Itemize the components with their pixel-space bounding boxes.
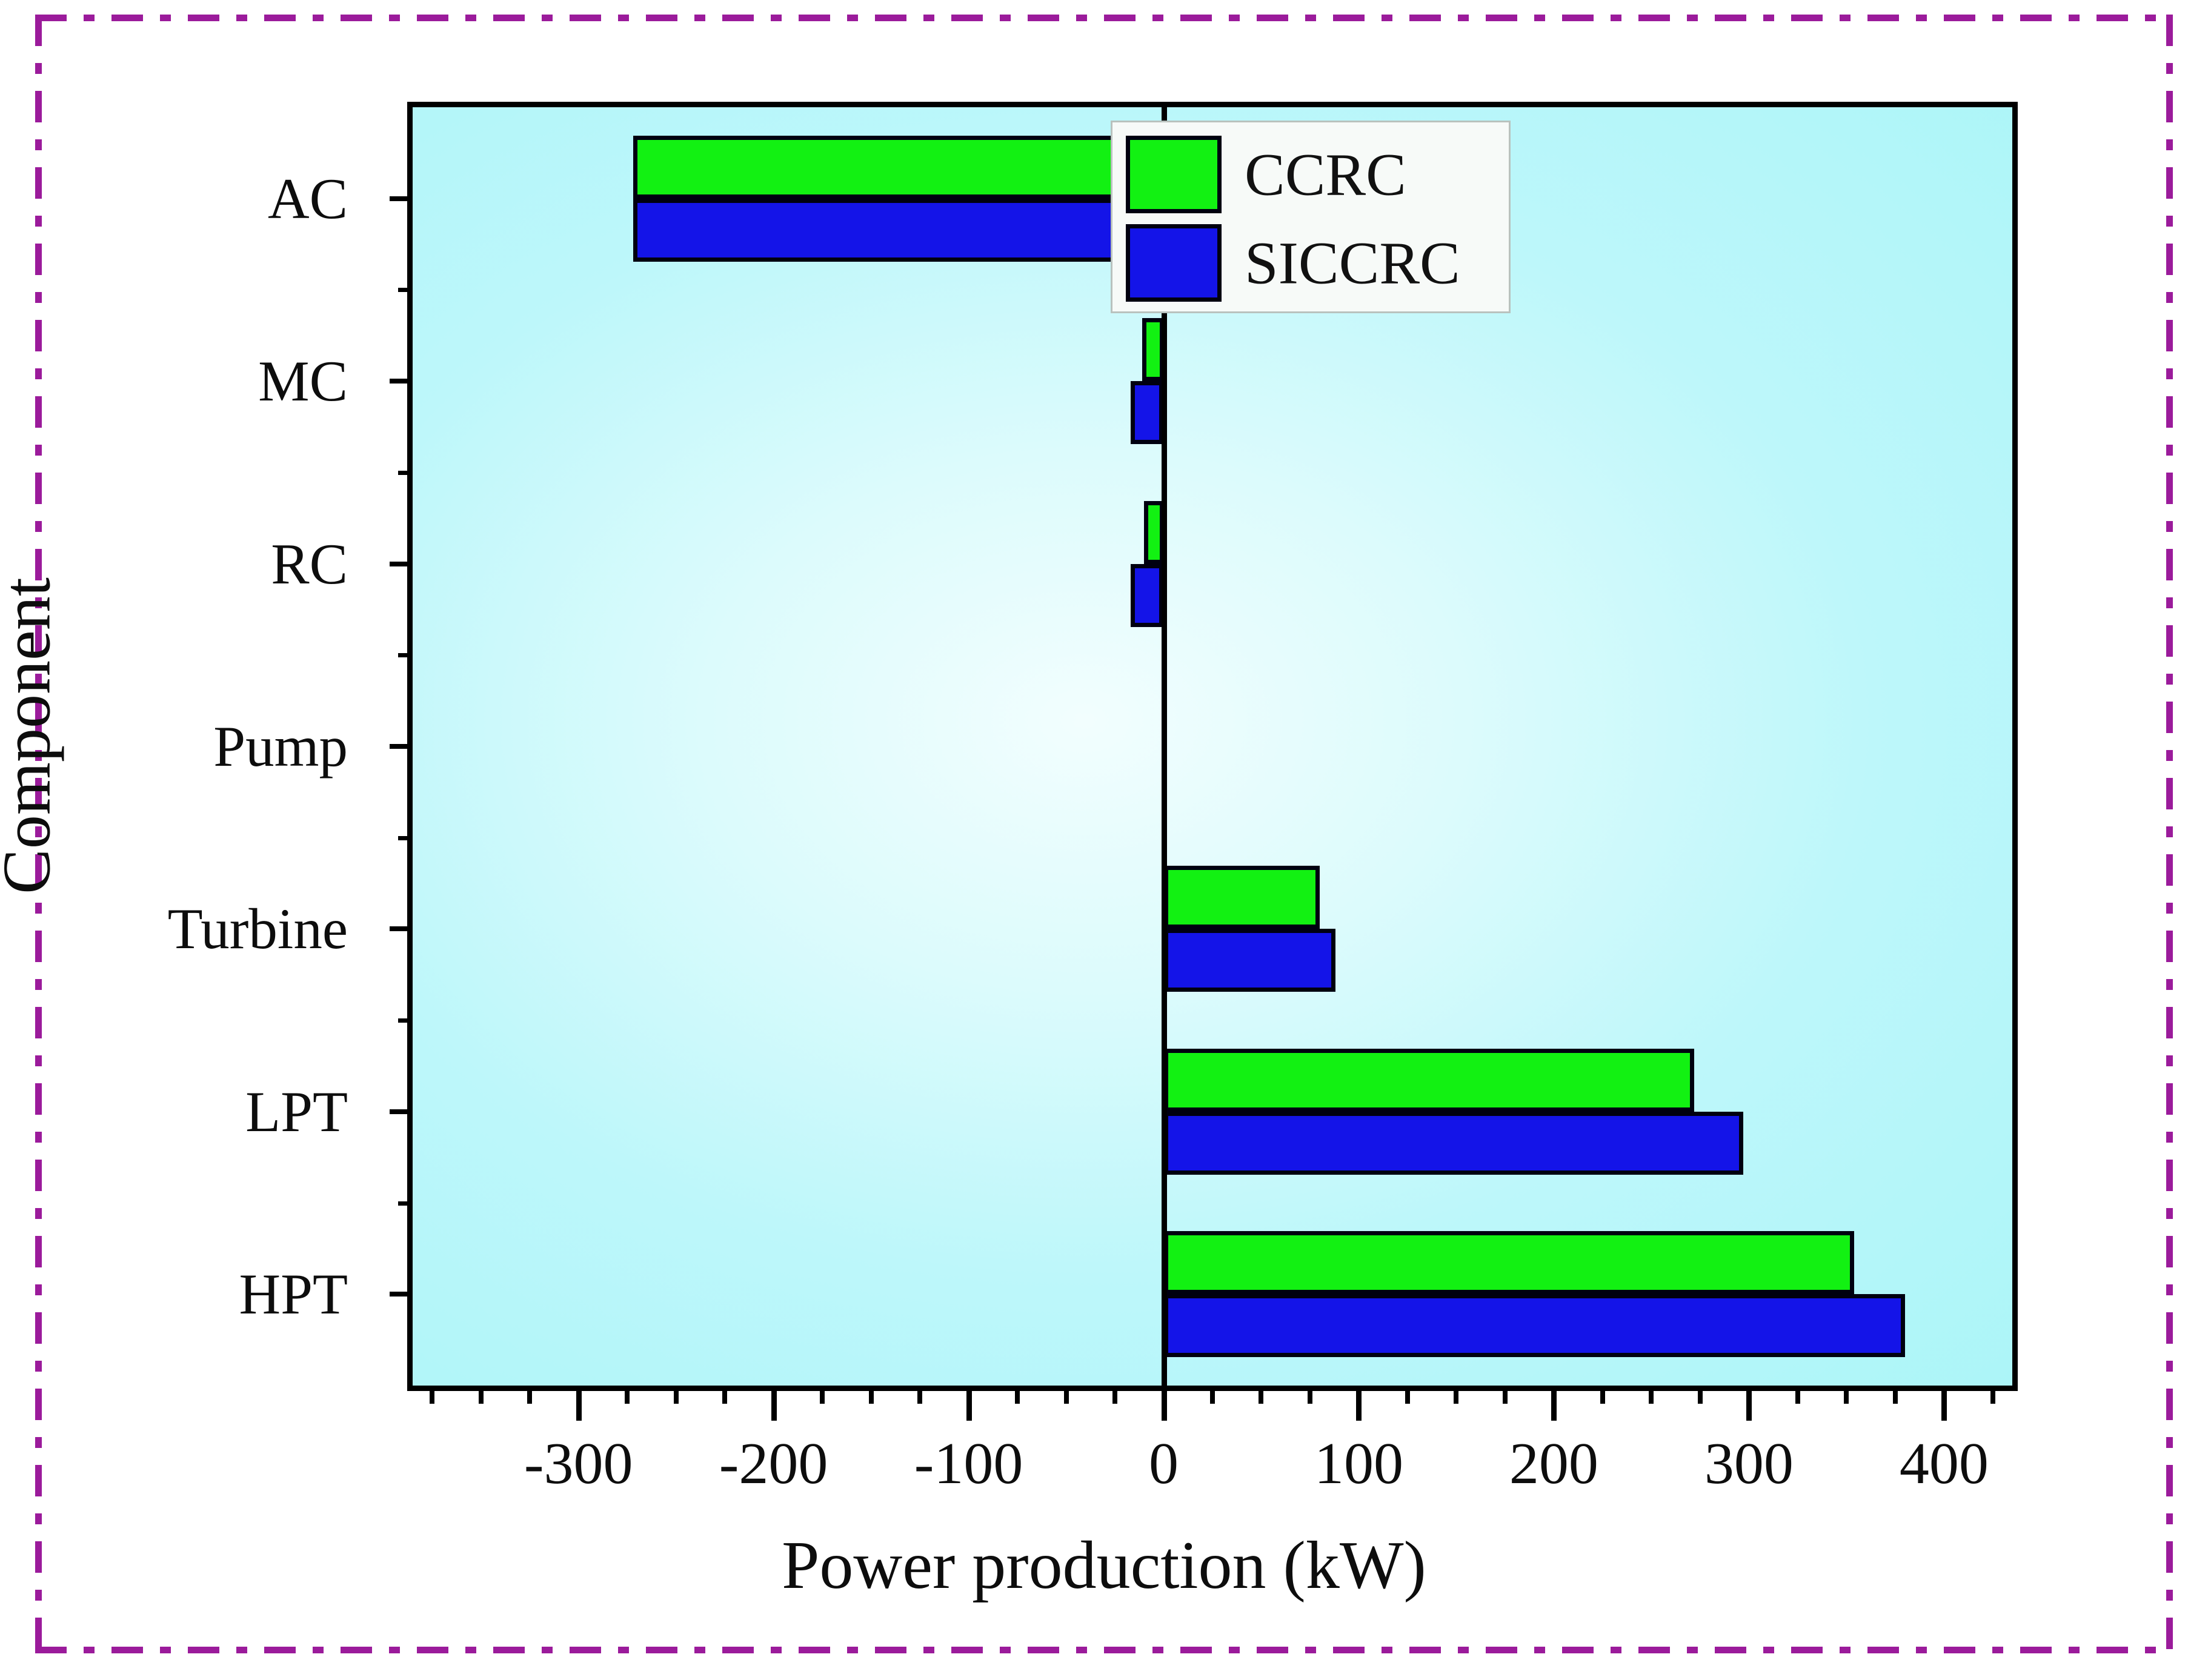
x-tick-100 [1356,1386,1362,1421]
x-tick--300 [576,1386,582,1421]
y-tick-pump [390,744,413,749]
x-tick-minor [1844,1386,1849,1404]
legend-swatch-siccrc [1126,224,1222,302]
y-tick-minor [398,836,413,840]
y-tick-turbine [390,926,413,931]
bar-hpt-ccrc [1164,1231,1855,1294]
x-tick-200 [1551,1386,1557,1421]
bar-lpt-ccrc [1164,1049,1695,1112]
legend-entry-siccrc: SICCRC [1126,224,1500,302]
x-tick-minor [869,1386,874,1404]
x-tick-minor [1698,1386,1703,1404]
x-tick--200 [771,1386,777,1421]
figure-frame: ACMCRCPumpTurbineLPTHPT Component CCRCSI… [0,0,2208,1680]
decorative-border-top [35,15,2173,21]
x-tick-minor [1259,1386,1263,1404]
x-tick-label-300: 300 [1704,1430,1794,1498]
x-tick-minor [1649,1386,1654,1404]
x-tick-minor [479,1386,484,1404]
y-tick-label-turbine: Turbine [168,895,348,962]
bar-rc-siccrc [1131,564,1164,627]
x-tick-minor [1064,1386,1069,1404]
x-tick--100 [966,1386,972,1421]
x-tick-minor [625,1386,630,1404]
x-tick-label-400: 400 [1900,1430,1989,1498]
x-axis-title: Power production (kW) [0,1527,2208,1605]
y-tick-ac [390,196,413,201]
legend-swatch-ccrc [1126,136,1222,213]
x-tick-minor [1015,1386,1020,1404]
x-tick-minor [527,1386,532,1404]
x-tick-minor [1308,1386,1312,1404]
legend: CCRCSICCRC [1111,121,1511,313]
y-tick-minor [398,1201,413,1206]
x-axis-tick-labels: -300-200-1000100200300400 [407,1430,2018,1509]
x-tick-label--300: -300 [524,1430,633,1498]
x-tick-300 [1746,1386,1752,1421]
y-tick-minor [398,288,413,292]
bar-ac-ccrc [633,136,1164,199]
legend-label-siccrc: SICCRC [1245,228,1460,298]
x-tick-minor [674,1386,679,1404]
x-tick-minor [722,1386,727,1404]
legend-label-ccrc: CCRC [1245,140,1406,210]
x-tick-minor [1795,1386,1800,1404]
y-tick-minor [398,471,413,475]
y-tick-rc [390,562,413,566]
bar-mc-ccrc [1142,318,1163,381]
x-tick-label-0: 0 [1149,1430,1179,1498]
bar-turbine-ccrc [1164,866,1320,929]
y-axis-title: Component [0,161,67,1312]
y-tick-label-ac: AC [268,165,348,232]
x-tick-minor [1454,1386,1458,1404]
bar-lpt-siccrc [1164,1112,1743,1175]
legend-entry-ccrc: CCRC [1126,136,1500,213]
x-tick-minor [1600,1386,1605,1404]
x-tick-label--200: -200 [719,1430,828,1498]
x-tick-minor [1405,1386,1410,1404]
y-tick-minor [398,1018,413,1023]
x-tick-label-100: 100 [1314,1430,1403,1498]
plot-area: CCRCSICCRC [407,102,2018,1391]
bar-ac-siccrc [633,199,1164,262]
x-tick-label-200: 200 [1509,1430,1598,1498]
y-axis-title-wrapper: Component [0,0,1,1]
x-tick-minor [1990,1386,1995,1404]
y-tick-lpt [390,1109,413,1114]
y-tick-minor [398,653,413,657]
x-tick-minor [820,1386,825,1404]
decorative-border-bottom [35,1647,2173,1653]
decorative-border-right [2166,15,2173,1653]
bar-hpt-siccrc [1164,1294,1905,1357]
x-tick-minor [917,1386,922,1404]
y-tick-label-lpt: LPT [245,1078,348,1145]
x-tick-minor [430,1386,434,1404]
y-tick-label-mc: MC [258,348,348,414]
y-tick-hpt [390,1292,413,1297]
y-tick-label-rc: RC [271,531,348,597]
x-tick-minor [1503,1386,1508,1404]
y-tick-mc [390,379,413,383]
y-tick-label-pump: Pump [213,713,348,780]
bar-turbine-siccrc [1164,929,1335,992]
x-tick-400 [1941,1386,1947,1421]
y-tick-label-hpt: HPT [239,1261,348,1327]
x-tick-label--100: -100 [914,1430,1023,1498]
x-tick-minor [1112,1386,1117,1404]
x-tick-minor [1893,1386,1898,1404]
x-tick-minor [1210,1386,1215,1404]
bar-mc-siccrc [1131,381,1164,444]
